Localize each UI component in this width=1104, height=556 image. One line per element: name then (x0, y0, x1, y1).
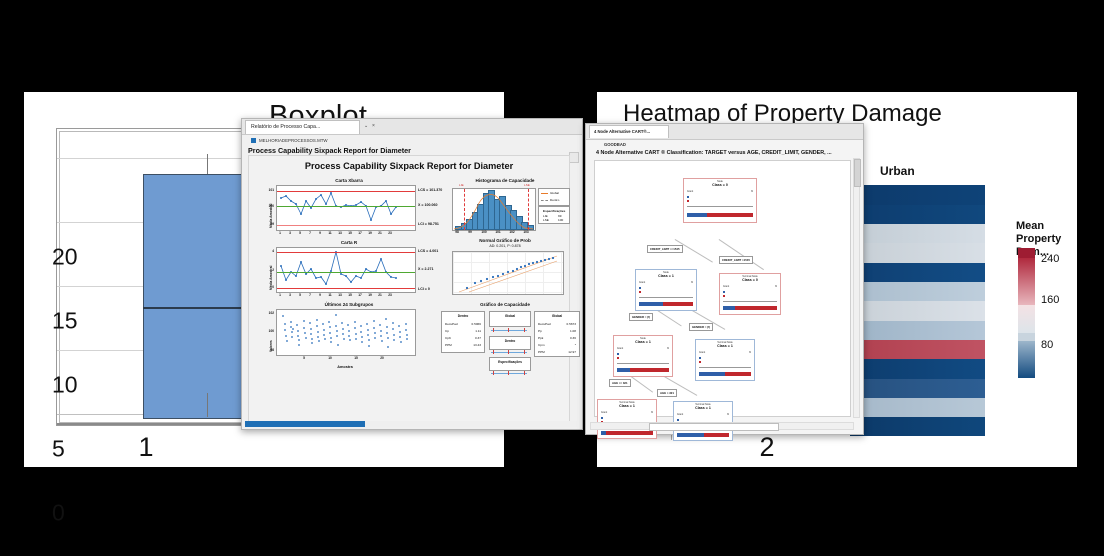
tree-node[interactable]: Node Class = 1 Count % (635, 269, 697, 311)
xbar-xtick: 13 (338, 231, 342, 235)
capability-marker (508, 350, 509, 354)
tree-node-class-bar (677, 433, 729, 437)
capability-within-table: Dentro DesvPad 0.5066 Cp 1.11 CpK 0.37 P… (441, 311, 485, 353)
tree-node-class: Class = 1 (598, 404, 656, 408)
subgroups-scatter (277, 310, 415, 355)
colorbar-tick-160: 160 (1041, 294, 1059, 306)
xbar-xtick: 17 (358, 231, 362, 235)
tree-node-pct-header: % (651, 412, 653, 414)
within-value: 0.5066 (472, 322, 481, 326)
spec-key-lie: LIE (543, 214, 548, 218)
tree-node-class-bar (687, 213, 753, 217)
r-chart-ytick: 2 (265, 268, 274, 272)
capability-marker (493, 350, 494, 354)
overall-value: 12.97 (568, 350, 576, 354)
presentation-stage: Boxplot 20 15 10 5 0 1 Heatmap of Proper… (0, 0, 1104, 556)
subgroups-xtick: 15 (354, 356, 358, 360)
sixpack-report-canvas[interactable]: Process Capability Sixpack Report for Di… (248, 155, 570, 422)
overall-key: Cpm (538, 343, 545, 347)
legend-label-global: Global (550, 191, 559, 195)
heatmap-grid[interactable] (850, 185, 985, 435)
capability-band-line-within (491, 352, 527, 353)
class-swatch-blue (601, 417, 603, 419)
overall-value: 1.08 (570, 329, 576, 333)
xbar-ucl-label: LCS = 101.370 (418, 188, 442, 192)
tree-node-class: Class = 0 (720, 278, 780, 282)
capability-marker (524, 328, 525, 332)
histogram-title: Histograma de Capacidade (447, 178, 563, 183)
capability-title: Gráfico de Capacidade (447, 302, 563, 307)
heatmap-cell[interactable] (850, 321, 985, 340)
xbar-lcl-line (277, 225, 415, 226)
sixpack-tab[interactable]: Relatório de Processo Capa... (245, 120, 360, 134)
xbar-center-label: X = 100.060 (418, 203, 437, 207)
subgroups-ytick: 100 (262, 329, 274, 333)
tree-node-pct-header: % (749, 352, 751, 354)
tree-node-class: Class = 1 (614, 340, 672, 344)
heatmap-legend-title-line1: Mean (1016, 220, 1044, 233)
sixpack-command-heading: Process Capability Sixpack Report for Di… (248, 146, 411, 155)
tree-node-divider (639, 297, 693, 298)
colorbar-segment (1018, 248, 1035, 258)
tree-node-col-header: Count (699, 352, 705, 354)
sixpack-scroll-handle[interactable] (569, 152, 579, 163)
split-label: CREDIT_LIMIT <=1545 (647, 245, 683, 253)
normal-plot-subtitle: AD: 0.201, P: 0.878 (447, 244, 563, 248)
class-swatch-red (723, 295, 725, 297)
spec-value-lse: 100 (558, 218, 563, 222)
sixpack-report-title: Process Capability Sixpack Report for Di… (249, 161, 569, 171)
histogram-xtick: 100 (481, 230, 486, 234)
sixpack-tab-label: Relatório de Processo Capa... (251, 124, 320, 130)
r-chart-ytick: 4 (265, 249, 274, 253)
within-value: 1.11 (475, 329, 481, 333)
capability-band-within: Dentro (489, 336, 531, 350)
xbar-xtick: 5 (299, 231, 301, 235)
capability-marker (524, 350, 525, 354)
split-label: GENDER = (f) (629, 313, 653, 321)
capability-marker (493, 371, 494, 375)
xbar-plot-area[interactable] (276, 185, 416, 231)
tree-node-pct-header: % (727, 414, 729, 416)
bar-segment-red (735, 306, 777, 310)
capability-marker (508, 328, 509, 332)
split-label: GENDER = (f) (689, 323, 713, 331)
heatmap-cell[interactable] (850, 301, 985, 321)
legend-label-within: Dentro (550, 198, 559, 202)
cart-tab[interactable]: 4 Node Alternative CART®... (589, 125, 669, 138)
cart-tab-bar: 4 Node Alternative CART®... (586, 124, 863, 140)
class-swatch-red (617, 357, 619, 359)
capability-band-line-spec (491, 373, 527, 374)
subgroups-ytick: 98 (262, 348, 274, 352)
colorbar-segment (1018, 341, 1035, 378)
tree-node-col-header: Count (639, 282, 645, 284)
tree-node-class-bar (723, 306, 777, 310)
overall-key: Ppk (538, 336, 543, 340)
bar-segment-red (663, 302, 693, 306)
legend-swatch-global (541, 193, 548, 194)
subgroups-xtick: 20 (380, 356, 384, 360)
xbar-xtick: 11 (328, 231, 331, 235)
within-key: CpK (445, 336, 451, 340)
tree-node-col-header: Count (677, 414, 683, 416)
r-chart-ytick: 0 (265, 285, 274, 289)
within-value: 13.43 (473, 343, 481, 347)
class-swatch-red (687, 200, 689, 202)
window-process-capability-sixpack[interactable]: Relatório de Processo Capa... ⌄ × MELHOR… (241, 118, 583, 430)
xbar-ytick: 101 (263, 188, 274, 192)
class-swatch-blue (687, 196, 689, 198)
bar-segment-red (606, 431, 653, 435)
xbar-xtick: 3 (289, 231, 291, 235)
tree-node-class: Class = 1 (636, 274, 696, 278)
heatmap-cell[interactable] (850, 282, 985, 301)
bar-segment-blue (699, 372, 725, 376)
r-chart-lcl-label: LCI = 0 (418, 287, 430, 291)
xbar-xtick: 1 (279, 231, 281, 235)
tree-node-col-header: Count (723, 286, 729, 288)
r-chart-ucl-line (277, 252, 415, 253)
histogram-usl-line (528, 189, 529, 230)
capability-marker (524, 371, 525, 375)
tree-node-class-bar (699, 372, 751, 376)
overall-value: 0.5673 (567, 322, 576, 326)
class-swatch-blue (639, 287, 641, 289)
tree-node-divider (687, 206, 753, 207)
tree-node-col-header: Count (601, 412, 607, 414)
histogram-xtick: 103 (523, 230, 528, 234)
histogram-xtick: 98 (455, 230, 459, 234)
tree-node-pct-header: % (775, 286, 777, 288)
colorbar-tick-240: 240 (1041, 253, 1059, 265)
spec-key-lse: LSE (543, 218, 549, 222)
xbar-xtick: 7 (309, 231, 311, 235)
tree-node-divider (617, 363, 669, 364)
histogram-lsl-line (464, 189, 465, 230)
overall-value: * (575, 343, 576, 347)
xbar-xtick: 19 (368, 231, 372, 235)
split-label: AGE > 321 (657, 389, 677, 397)
class-swatch-blue (699, 357, 701, 359)
bar-segment-blue (617, 368, 630, 372)
window-cart-classification[interactable]: 4 Node Alternative CART®... GOODBAD 4 No… (585, 123, 864, 435)
xbar-series (277, 186, 415, 230)
tree-edge (719, 239, 764, 270)
legend-swatch-within (541, 200, 548, 201)
r-chart-xtick: 13 (338, 293, 342, 297)
bar-segment-blue (677, 433, 704, 437)
r-chart-xtick: 11 (328, 293, 331, 297)
bar-segment-blue (687, 213, 707, 217)
sixpack-horizontal-scrollbar[interactable] (245, 421, 578, 427)
tree-node-col-header: Count (617, 348, 623, 350)
colorbar-segment (1018, 305, 1035, 333)
xbar-ytick: 99 (263, 222, 274, 226)
bar-segment-blue (723, 306, 735, 310)
colorbar-tick-80: 80 (1041, 339, 1053, 351)
r-chart-xtick: 1 (279, 293, 281, 297)
subgroups-plot-area[interactable] (276, 309, 416, 356)
tree-node-class: Class = 0 (684, 183, 756, 187)
r-chart-lcl-line (277, 288, 415, 289)
bar-segment-red (704, 433, 729, 437)
tree-node-pct-header: % (691, 282, 693, 284)
heatmap-cell[interactable] (850, 205, 985, 224)
subgroups-xtick: 5 (303, 356, 305, 360)
band-spec-label: Especificações (490, 360, 530, 364)
capability-band-line-overall (491, 330, 527, 331)
subgroups-ytick: 102 (262, 311, 274, 315)
bar-segment-blue (639, 302, 663, 306)
close-icon[interactable]: × (372, 123, 375, 129)
r-chart-xtick: 7 (309, 293, 311, 297)
tree-node-terminal[interactable]: Terminal Node Class = 1 Count % (597, 399, 657, 439)
r-chart-series (277, 248, 415, 292)
overall-key: PPM (538, 350, 545, 354)
r-chart-title: Carta R (269, 240, 429, 245)
histogram-legend: Global Dentro (538, 188, 570, 206)
tree-node[interactable]: Node Class = 1 Count % (613, 335, 673, 377)
spec-header: Especificações (543, 209, 565, 213)
capability-marker (493, 328, 494, 332)
r-chart-plot-area[interactable] (276, 247, 416, 293)
capability-band-overall: Global (489, 311, 531, 327)
xbar-chart-title: Carta Xbarra (269, 178, 429, 183)
heatmap-column-label-urban: Urban (880, 164, 915, 178)
xbar-xtick: 9 (319, 231, 321, 235)
heatmap-cell[interactable] (850, 340, 985, 359)
subgroups-xtick: 10 (328, 356, 332, 360)
chevron-down-icon[interactable]: ⌄ (364, 123, 368, 129)
histogram-xtick: 99 (468, 230, 472, 234)
cart-horizontal-scrollbar[interactable] (590, 422, 854, 430)
r-chart-xtick: 17 (358, 293, 362, 297)
xbar-ytick: 100 (263, 204, 274, 208)
tree-node-class-bar (639, 302, 693, 306)
split-label: CREDIT_LIMIT >1545 (719, 256, 753, 264)
bar-segment-red (630, 368, 669, 372)
band-overall-label: Global (490, 314, 530, 318)
xbar-ucl-line (277, 191, 415, 192)
tree-node-class-bar (617, 368, 669, 372)
tree-node[interactable]: Terminal Node Class = 1 Count % (695, 339, 755, 381)
boxplot-upper-whisker (207, 154, 208, 175)
r-chart-xtick: 21 (378, 293, 382, 297)
cart-heading: 4 Node Alternative CART ® Classification… (596, 150, 832, 156)
r-chart-xtick: 19 (368, 293, 372, 297)
xbar-xtick: 21 (378, 231, 382, 235)
cart-hscroll-thumb[interactable] (649, 423, 779, 431)
cart-vscroll-thumb[interactable] (854, 159, 861, 187)
overall-table-header: Global (535, 314, 579, 318)
heatmap-cell[interactable] (850, 359, 985, 379)
tree-node-divider (723, 301, 777, 302)
tree-node-pct-header: % (751, 191, 753, 193)
sixpack-worksheet-name: MELHORIADEPROCESSOS.MTW (251, 138, 328, 143)
xbar-xtick: 15 (348, 231, 352, 235)
r-chart-center-line (277, 272, 415, 273)
within-table-header: Dentro (442, 314, 484, 318)
capability-band-spec: Especificações (489, 357, 531, 371)
within-value: 0.37 (475, 336, 481, 340)
tree-node-col-header: Count (687, 191, 693, 193)
tree-node-class-bar (601, 431, 653, 435)
capability-overall-table: Global DesvPad 0.5673 Pp 1.08 Ppk 0.36 C… (534, 311, 580, 357)
r-chart-xtick: 5 (299, 293, 301, 297)
normal-plot-title: Normal Gráfico de Prob (447, 238, 563, 243)
heatmap-cell[interactable] (850, 224, 985, 243)
histogram-spec-box: Especificações LIE 99 LSE 100 (538, 206, 570, 224)
class-swatch-red (639, 291, 641, 293)
within-key: PPM (445, 343, 452, 347)
boxplot-lower-whisker (207, 393, 208, 417)
band-within-label: Dentro (490, 339, 530, 343)
heatmap-colorbar (1018, 248, 1035, 378)
cart-subtitle: GOODBAD (604, 142, 626, 147)
within-key: Cp (445, 329, 449, 333)
class-swatch-blue (723, 291, 725, 293)
overall-value: 0.36 (570, 336, 576, 340)
histogram-density-curve (453, 189, 535, 230)
r-chart-xtick: 15 (348, 293, 352, 297)
overall-key: Pp (538, 329, 542, 333)
subgroups-x-axis-label: Amostra (249, 365, 441, 369)
within-key: DesvPad (445, 322, 458, 326)
heatmap-cell[interactable] (850, 379, 985, 398)
tree-node-pct-header: % (667, 348, 669, 350)
histogram-plot-area[interactable] (452, 188, 536, 231)
normal-plot-series (453, 252, 563, 294)
r-chart-xtick: 9 (319, 293, 321, 297)
tree-node-class: Class = 1 (696, 344, 754, 348)
xbar-xtick: 23 (388, 231, 392, 235)
r-chart-ucl-label: LCS = 4.001 (418, 249, 438, 253)
tree-node-divider (699, 367, 751, 368)
tree-node-root[interactable]: Node Class = 0 Count % (683, 178, 757, 223)
tree-node[interactable]: Terminal Node Class = 0 Count % (719, 273, 781, 315)
bar-segment-red (707, 213, 753, 217)
cart-tab-label: 4 Node Alternative CART®... (594, 129, 650, 134)
normal-plot-area[interactable] (452, 251, 564, 295)
histogram-xtick: 101 (495, 230, 500, 234)
cart-tree-canvas[interactable]: Node Class = 0 Count % CREDIT_LIMIT <=15… (594, 160, 851, 417)
r-chart-xtick: 23 (388, 293, 392, 297)
colorbar-segment (1018, 258, 1035, 305)
overall-key: DesvPad (538, 322, 551, 326)
boxplot-category-label: 1 (0, 432, 386, 463)
heatmap-cell[interactable] (850, 243, 985, 263)
histogram-usl-marker: LSE (524, 183, 530, 187)
class-swatch-blue (617, 353, 619, 355)
histogram-xtick: 102 (509, 230, 514, 234)
class-swatch-red (699, 361, 701, 363)
tree-node-terminal[interactable]: Terminal Node Class = 1 Count % (673, 401, 733, 441)
histogram-lsl-marker: LIE (459, 183, 464, 187)
tree-node-class: Class = 1 (674, 406, 732, 410)
xbar-center-line (277, 206, 415, 207)
r-chart-xtick: 3 (289, 293, 291, 297)
worksheet-icon (251, 138, 256, 143)
heatmap-cell[interactable] (850, 398, 985, 417)
sixpack-tab-bar: Relatório de Processo Capa... ⌄ × (242, 119, 582, 135)
spec-value-lie: 99 (558, 214, 561, 218)
capability-marker (508, 371, 509, 375)
split-label: AGE <= 321 (609, 379, 631, 387)
heatmap-cell[interactable] (850, 263, 985, 282)
xbar-lcl-label: LCI = 98.751 (418, 222, 439, 226)
r-chart-center-label: X = 2.271 (418, 267, 434, 271)
sixpack-scrollbar-thumb[interactable] (245, 421, 365, 427)
subgroups-chart-title: Últimos 24 Subgrupos (269, 302, 429, 307)
heatmap-cell[interactable] (850, 185, 985, 205)
colorbar-segment (1018, 333, 1035, 341)
cart-vertical-scrollbar[interactable] (853, 158, 860, 418)
bar-segment-red (725, 372, 751, 376)
